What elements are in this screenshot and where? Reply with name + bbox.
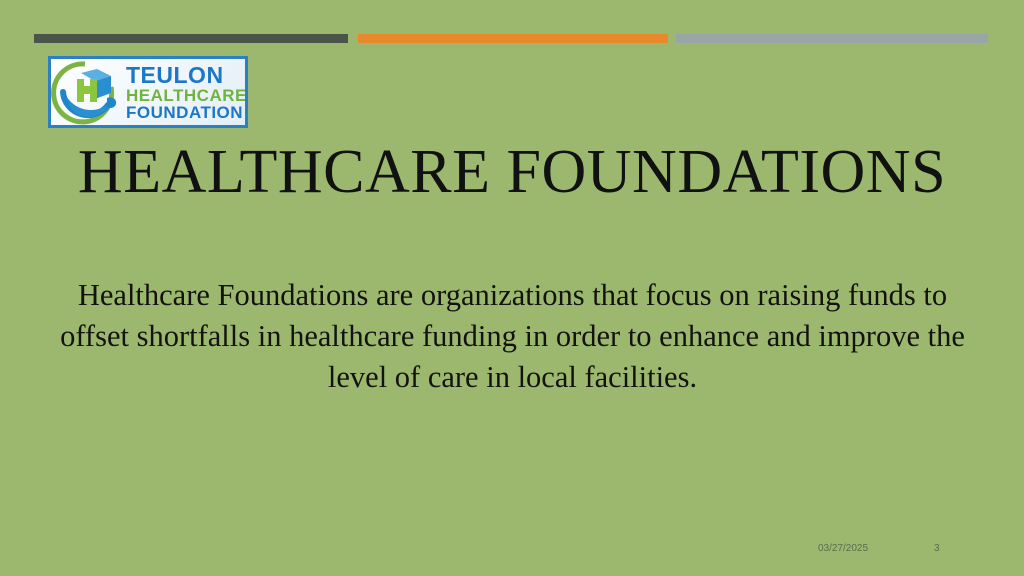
footer-date: 03/27/2025 [818,543,868,554]
slide-body-text: Healthcare Foundations are organizations… [55,275,970,398]
top-rule-gray [676,34,988,43]
logo-line-healthcare: HEALTHCARE [126,87,247,104]
slide-title: HEALTHCARE FOUNDATIONS [62,140,962,205]
logo-line-foundation: FOUNDATION [126,104,247,121]
logo-wordmark: TEULON HEALTHCARE FOUNDATION [125,64,248,121]
hand-holding-h-cube-logo-icon [51,59,125,125]
presentation-slide: TEULON HEALTHCARE FOUNDATION HEALTHCARE … [0,0,1024,576]
top-rule-orange [358,34,668,43]
logo-inner: TEULON HEALTHCARE FOUNDATION [51,59,245,125]
logo-line-teulon: TEULON [126,64,247,87]
teulon-healthcare-foundation-logo: TEULON HEALTHCARE FOUNDATION [48,56,248,128]
top-rule-dark [34,34,348,43]
top-rule-group [0,34,1024,44]
footer-page-number: 3 [934,543,940,554]
